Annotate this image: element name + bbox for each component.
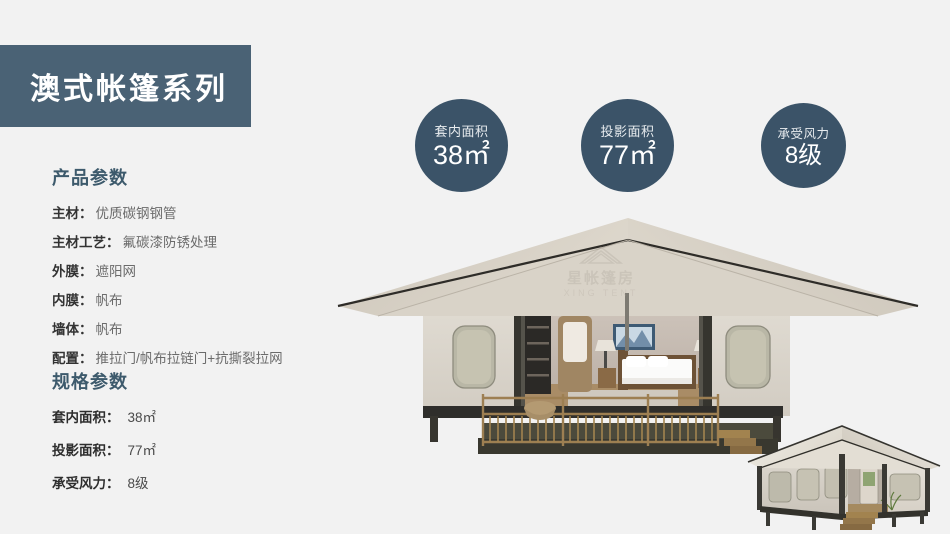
stat-label: 承受风力 [777, 123, 829, 142]
stat-value: 8级 [785, 143, 822, 168]
stat-badge-interior-area: 套内面积 38㎡ [415, 99, 508, 192]
stat-badge-projected-area: 投影面积 77㎡ [581, 99, 674, 192]
product-parameters-panel: 产品参数 主材： 优质碳钢钢管 主材工艺： 氟碳漆防锈处理 外膜： 遮阳网 内膜… [52, 164, 352, 376]
specification-parameters-heading: 规格参数 [52, 368, 352, 394]
spec-label: 投影面积： [52, 439, 120, 459]
stat-value: 77㎡ [599, 141, 656, 169]
spec-value: 77㎡ [128, 439, 157, 459]
spec-row: 配置： 推拉门/帆布拉链门+抗撕裂拉网 [52, 347, 352, 367]
product-parameters-heading: 产品参数 [52, 164, 352, 190]
spec-label: 外膜： [52, 260, 93, 280]
spec-row: 套内面积： 38㎡ [52, 406, 352, 426]
spec-label: 套内面积： [52, 406, 120, 426]
stat-label: 套内面积 [434, 121, 488, 140]
spec-label: 墙体： [52, 318, 93, 338]
spec-label: 主材工艺： [52, 231, 120, 251]
secondary-tent-illustration [742, 418, 950, 534]
spec-value: 帆布 [96, 318, 123, 338]
spec-label: 内膜： [52, 289, 93, 309]
product-spec-page: 澳式帐篷系列 产品参数 主材： 优质碳钢钢管 主材工艺： 氟碳漆防锈处理 外膜：… [0, 0, 950, 534]
spec-row: 承受风力： 8级 [52, 472, 352, 492]
spec-label: 配置： [52, 347, 93, 367]
spec-value: 优质碳钢钢管 [96, 202, 177, 222]
stat-badge-wind-resistance: 承受风力 8级 [761, 103, 846, 188]
series-title-text: 澳式帐篷系列 [30, 64, 228, 108]
spec-value: 38㎡ [128, 406, 157, 426]
spec-row: 主材工艺： 氟碳漆防锈处理 [52, 231, 352, 251]
specification-parameters-panel: 规格参数 套内面积： 38㎡ 投影面积： 77㎡ 承受风力： 8级 [52, 368, 352, 505]
spec-value: 推拉门/帆布拉链门+抗撕裂拉网 [96, 347, 283, 367]
spec-value: 帆布 [96, 289, 123, 309]
spec-value: 遮阳网 [96, 260, 137, 280]
spec-row: 外膜： 遮阳网 [52, 260, 352, 280]
spec-row: 内膜： 帆布 [52, 289, 352, 309]
spec-label: 主材： [52, 202, 93, 222]
series-title-banner: 澳式帐篷系列 [0, 45, 251, 127]
spec-row: 投影面积： 77㎡ [52, 439, 352, 459]
spec-row: 主材： 优质碳钢钢管 [52, 202, 352, 222]
spec-value: 氟碳漆防锈处理 [123, 231, 218, 251]
stat-label: 投影面积 [600, 121, 654, 140]
spec-label: 承受风力： [52, 472, 120, 492]
stat-value: 38㎡ [433, 141, 490, 169]
spec-row: 墙体： 帆布 [52, 318, 352, 338]
spec-value: 8级 [128, 472, 149, 492]
